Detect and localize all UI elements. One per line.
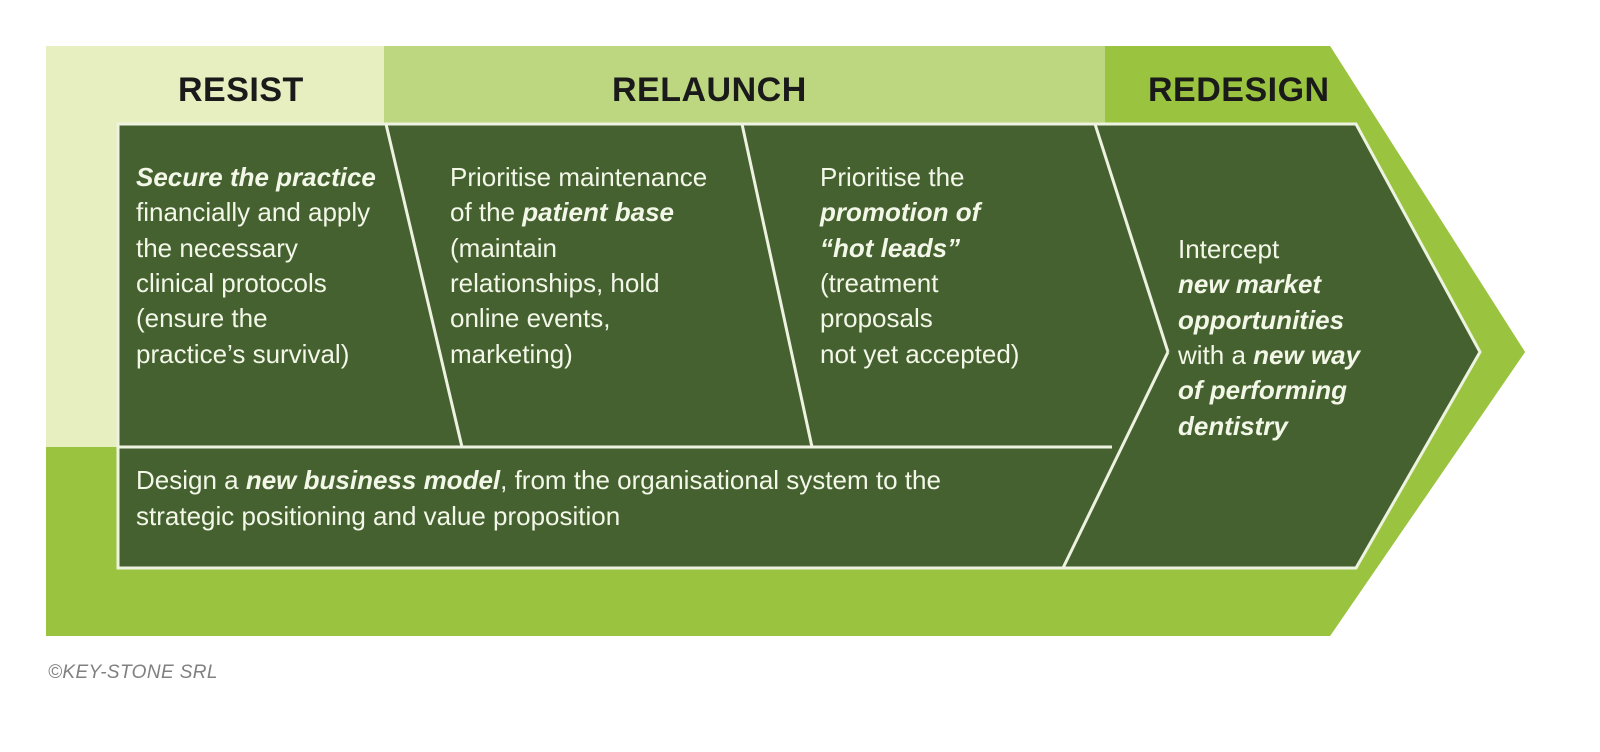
panel-line: relationships, hold <box>450 266 740 301</box>
panel-secure-the-practice: Secure the practice financially and appl… <box>136 160 386 372</box>
panel-line: new market <box>1178 267 1428 302</box>
panel-line: practice’s survival) <box>136 337 386 372</box>
panel-line-bold: promotion of <box>820 197 980 227</box>
panel-line: clinical protocols <box>136 266 386 301</box>
panel-line: with a new way <box>1178 338 1428 373</box>
panel-line: of the patient base <box>450 195 740 230</box>
bottom-line-plain: Design a <box>136 465 246 495</box>
panel-line-bold: new market <box>1178 269 1321 299</box>
bottom-bar-line-2: strategic positioning and value proposit… <box>136 498 1036 534</box>
phase-label-resist: RESIST <box>178 71 304 110</box>
panel-line: opportunities <box>1178 303 1428 338</box>
phase-label-relaunch: RELAUNCH <box>612 71 807 110</box>
panel-line-bold: of performing <box>1178 375 1347 405</box>
panel-line: (maintain <box>450 231 740 266</box>
panel-line: dentistry <box>1178 409 1428 444</box>
panel-line: Prioritise maintenance <box>450 160 740 195</box>
bottom-bar-line-1: Design a new business model, from the or… <box>136 462 1036 498</box>
panel-line-bold: “hot leads” <box>820 233 960 263</box>
panel-patient-base: Prioritise maintenance of the patient ba… <box>450 160 740 372</box>
panel-line: proposals <box>820 301 1090 336</box>
panel-hot-leads: Prioritise the promotion of “hot leads” … <box>820 160 1090 372</box>
panel-line-plain: of the <box>450 197 522 227</box>
panel-line: Prioritise the <box>820 160 1090 195</box>
panel-line: (treatment <box>820 266 1090 301</box>
panel-line-bold: opportunities <box>1178 305 1344 335</box>
panel-line-bold: new way <box>1253 340 1360 370</box>
process-arrow-diagram: RESIST RELAUNCH REDESIGN Secure the prac… <box>0 0 1600 752</box>
bottom-line-plain: , from the organisational system to the <box>500 465 941 495</box>
panel-line: the necessary <box>136 231 386 266</box>
copyright-credit: ©KEY-STONE SRL <box>48 662 218 684</box>
panel-line: not yet accepted) <box>820 337 1090 372</box>
panel-line-bold: dentistry <box>1178 411 1288 441</box>
panel-line: Secure the practice <box>136 160 386 195</box>
bottom-bar-new-business-model: Design a new business model, from the or… <box>136 462 1036 535</box>
phase-label-redesign: REDESIGN <box>1148 71 1330 110</box>
bottom-line-bold: new business model <box>246 465 500 495</box>
panel-line: financially and apply <box>136 195 386 230</box>
panel-line: marketing) <box>450 337 740 372</box>
panel-line: promotion of <box>820 195 1090 230</box>
panel-line: Intercept <box>1178 232 1428 267</box>
panel-line: online events, <box>450 301 740 336</box>
panel-line: (ensure the <box>136 301 386 336</box>
panel-line: of performing <box>1178 373 1428 408</box>
panel-line-bold: patient base <box>522 197 674 227</box>
panel-new-market-opportunities: Intercept new market opportunities with … <box>1178 232 1428 444</box>
panel-line: “hot leads” <box>820 231 1090 266</box>
panel-line-plain: with a <box>1178 340 1253 370</box>
panel-line-bold: Secure the practice <box>136 162 376 192</box>
